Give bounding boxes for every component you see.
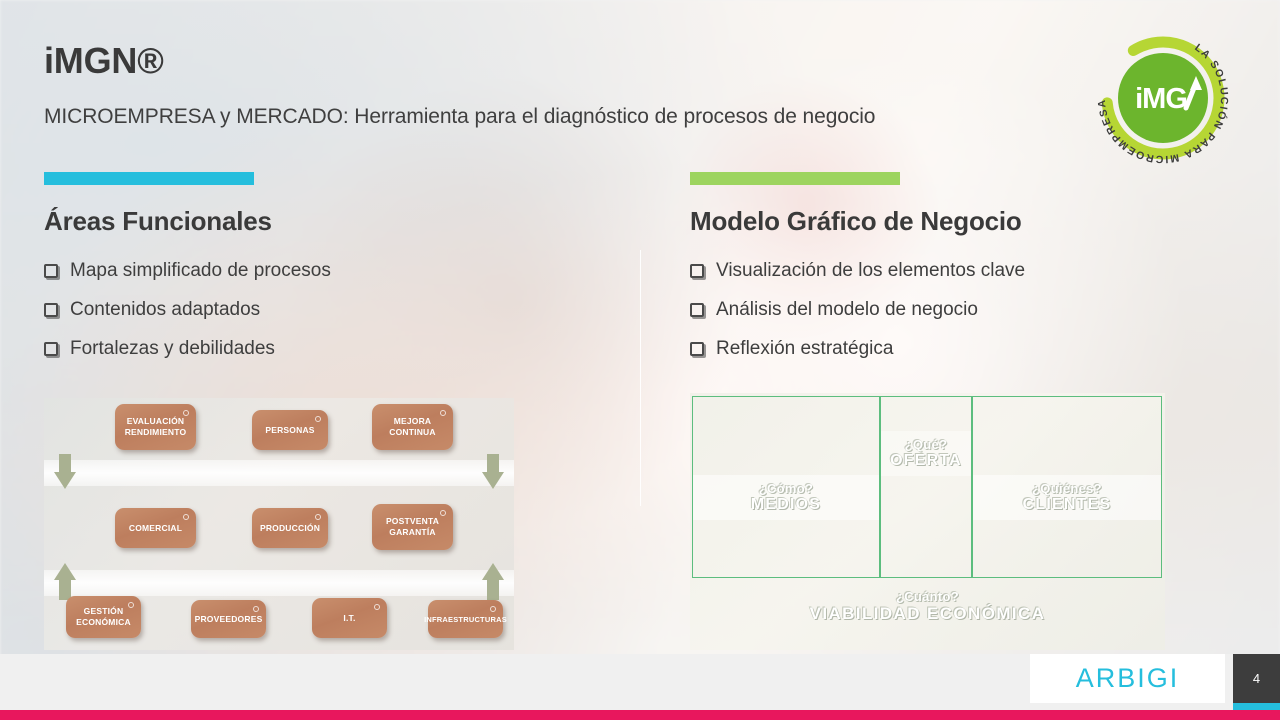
process-box[interactable]: PROVEEDORES [191,600,266,638]
checkbox-icon [44,303,58,317]
list-item-label: Contenidos adaptados [70,290,260,329]
canvas-answer: MEDIOS [751,496,821,514]
left-column-heading: Áreas Funcionales [44,206,604,237]
process-box[interactable]: PRODUCCIÓN [252,508,328,548]
left-bullet-list: Mapa simplificado de procesos Contenidos… [44,251,604,368]
process-band-top [44,460,514,486]
list-item-label: Análisis del modelo de negocio [716,290,978,329]
list-item: Visualización de los elementos clave [690,251,1250,290]
process-box[interactable]: POSTVENTA GARANTÍA [372,504,453,550]
canvas-answer: CLIENTES [1023,496,1112,514]
list-item: Fortalezas y debilidades [44,329,604,368]
process-box[interactable]: GESTIÓN ECONÓMICA [66,596,141,638]
imgn-logo: LA SOLUCIÓN PARA MICROEMPRESAS iMG [1093,28,1233,168]
canvas-cell-label-group: ¿Quiénes? CLIENTES [973,475,1161,520]
list-item-label: Visualización de los elementos clave [716,251,1025,290]
checkbox-icon [44,264,58,278]
list-item: Contenidos adaptados [44,290,604,329]
checkbox-icon [690,303,704,317]
right-bullet-list: Visualización de los elementos clave Aná… [690,251,1250,368]
slide: iMGN® MICROEMPRESA y MERCADO: Herramient… [0,0,1280,720]
column-divider [640,250,641,506]
arrow-up-left-icon [54,564,76,600]
canvas-answer: VIABILIDAD ECONÓMICA [810,604,1046,624]
canvas-cell-medios[interactable]: ¿Cómo? MEDIOS [692,396,880,578]
logo-graphic: LA SOLUCIÓN PARA MICROEMPRESAS iMG [1093,28,1233,168]
list-item: Análisis del modelo de negocio [690,290,1250,329]
page-title: iMGN® [44,40,164,82]
process-box[interactable]: I.T. [312,598,387,638]
process-box[interactable]: MEJORA CONTINUA [372,404,453,450]
list-item-label: Mapa simplificado de procesos [70,251,331,290]
canvas-question: ¿Cómo? [759,481,814,496]
list-item-label: Fortalezas y debilidades [70,329,275,368]
accent-rule-left [44,172,254,185]
canvas-cell-label-group: ¿Cómo? MEDIOS [693,475,879,520]
checkbox-icon [690,342,704,356]
process-map-diagram: EVALUACIÓN RENDIMIENTO PERSONAS MEJORA C… [44,398,514,650]
list-item: Mapa simplificado de procesos [44,251,604,290]
footer-stripe [0,710,1280,720]
list-item: Reflexión estratégica [690,329,1250,368]
process-band-bottom [44,570,514,596]
canvas-question: ¿Qué? [905,437,948,452]
business-model-canvas: ¿Cómo? MEDIOS ¿Qué? OFERTA ¿Quiénes? CLI… [690,393,1165,650]
canvas-cell-clientes[interactable]: ¿Quiénes? CLIENTES [972,396,1162,578]
brand-label: ARBIGI [1076,663,1180,694]
page-subtitle: MICROEMPRESA y MERCADO: Herramienta para… [44,105,875,129]
brand-plate: ARBIGI [1030,654,1225,703]
page-number-badge: 4 [1233,654,1280,703]
checkbox-icon [44,342,58,356]
process-box[interactable]: EVALUACIÓN RENDIMIENTO [115,404,196,450]
process-box[interactable]: PERSONAS [252,410,328,450]
canvas-cell-oferta[interactable]: ¿Qué? OFERTA [880,396,972,578]
canvas-question: ¿Quiénes? [1032,481,1102,496]
process-box[interactable]: INFRAESTRUCTURAS [428,600,503,638]
canvas-cell-label-group: ¿Qué? OFERTA [881,431,971,476]
left-column: Áreas Funcionales Mapa simplificado de p… [44,206,604,368]
right-column-heading: Modelo Gráfico de Negocio [690,206,1250,237]
page-number-accent [1233,702,1280,710]
canvas-question: ¿Cuánto? [896,589,959,604]
canvas-cell-viabilidad[interactable]: ¿Cuánto? VIABILIDAD ECONÓMICA [690,589,1165,624]
list-item-label: Reflexión estratégica [716,329,893,368]
checkbox-icon [690,264,704,278]
canvas-answer: OFERTA [890,452,962,470]
right-column: Modelo Gráfico de Negocio Visualización … [690,206,1250,368]
arrow-down-left-icon [54,454,76,490]
process-box[interactable]: COMERCIAL [115,508,196,548]
arrow-down-right-icon [482,454,504,490]
accent-rule-right [690,172,900,185]
arrow-up-right-icon [482,564,504,600]
svg-text:iMG: iMG [1135,83,1187,115]
